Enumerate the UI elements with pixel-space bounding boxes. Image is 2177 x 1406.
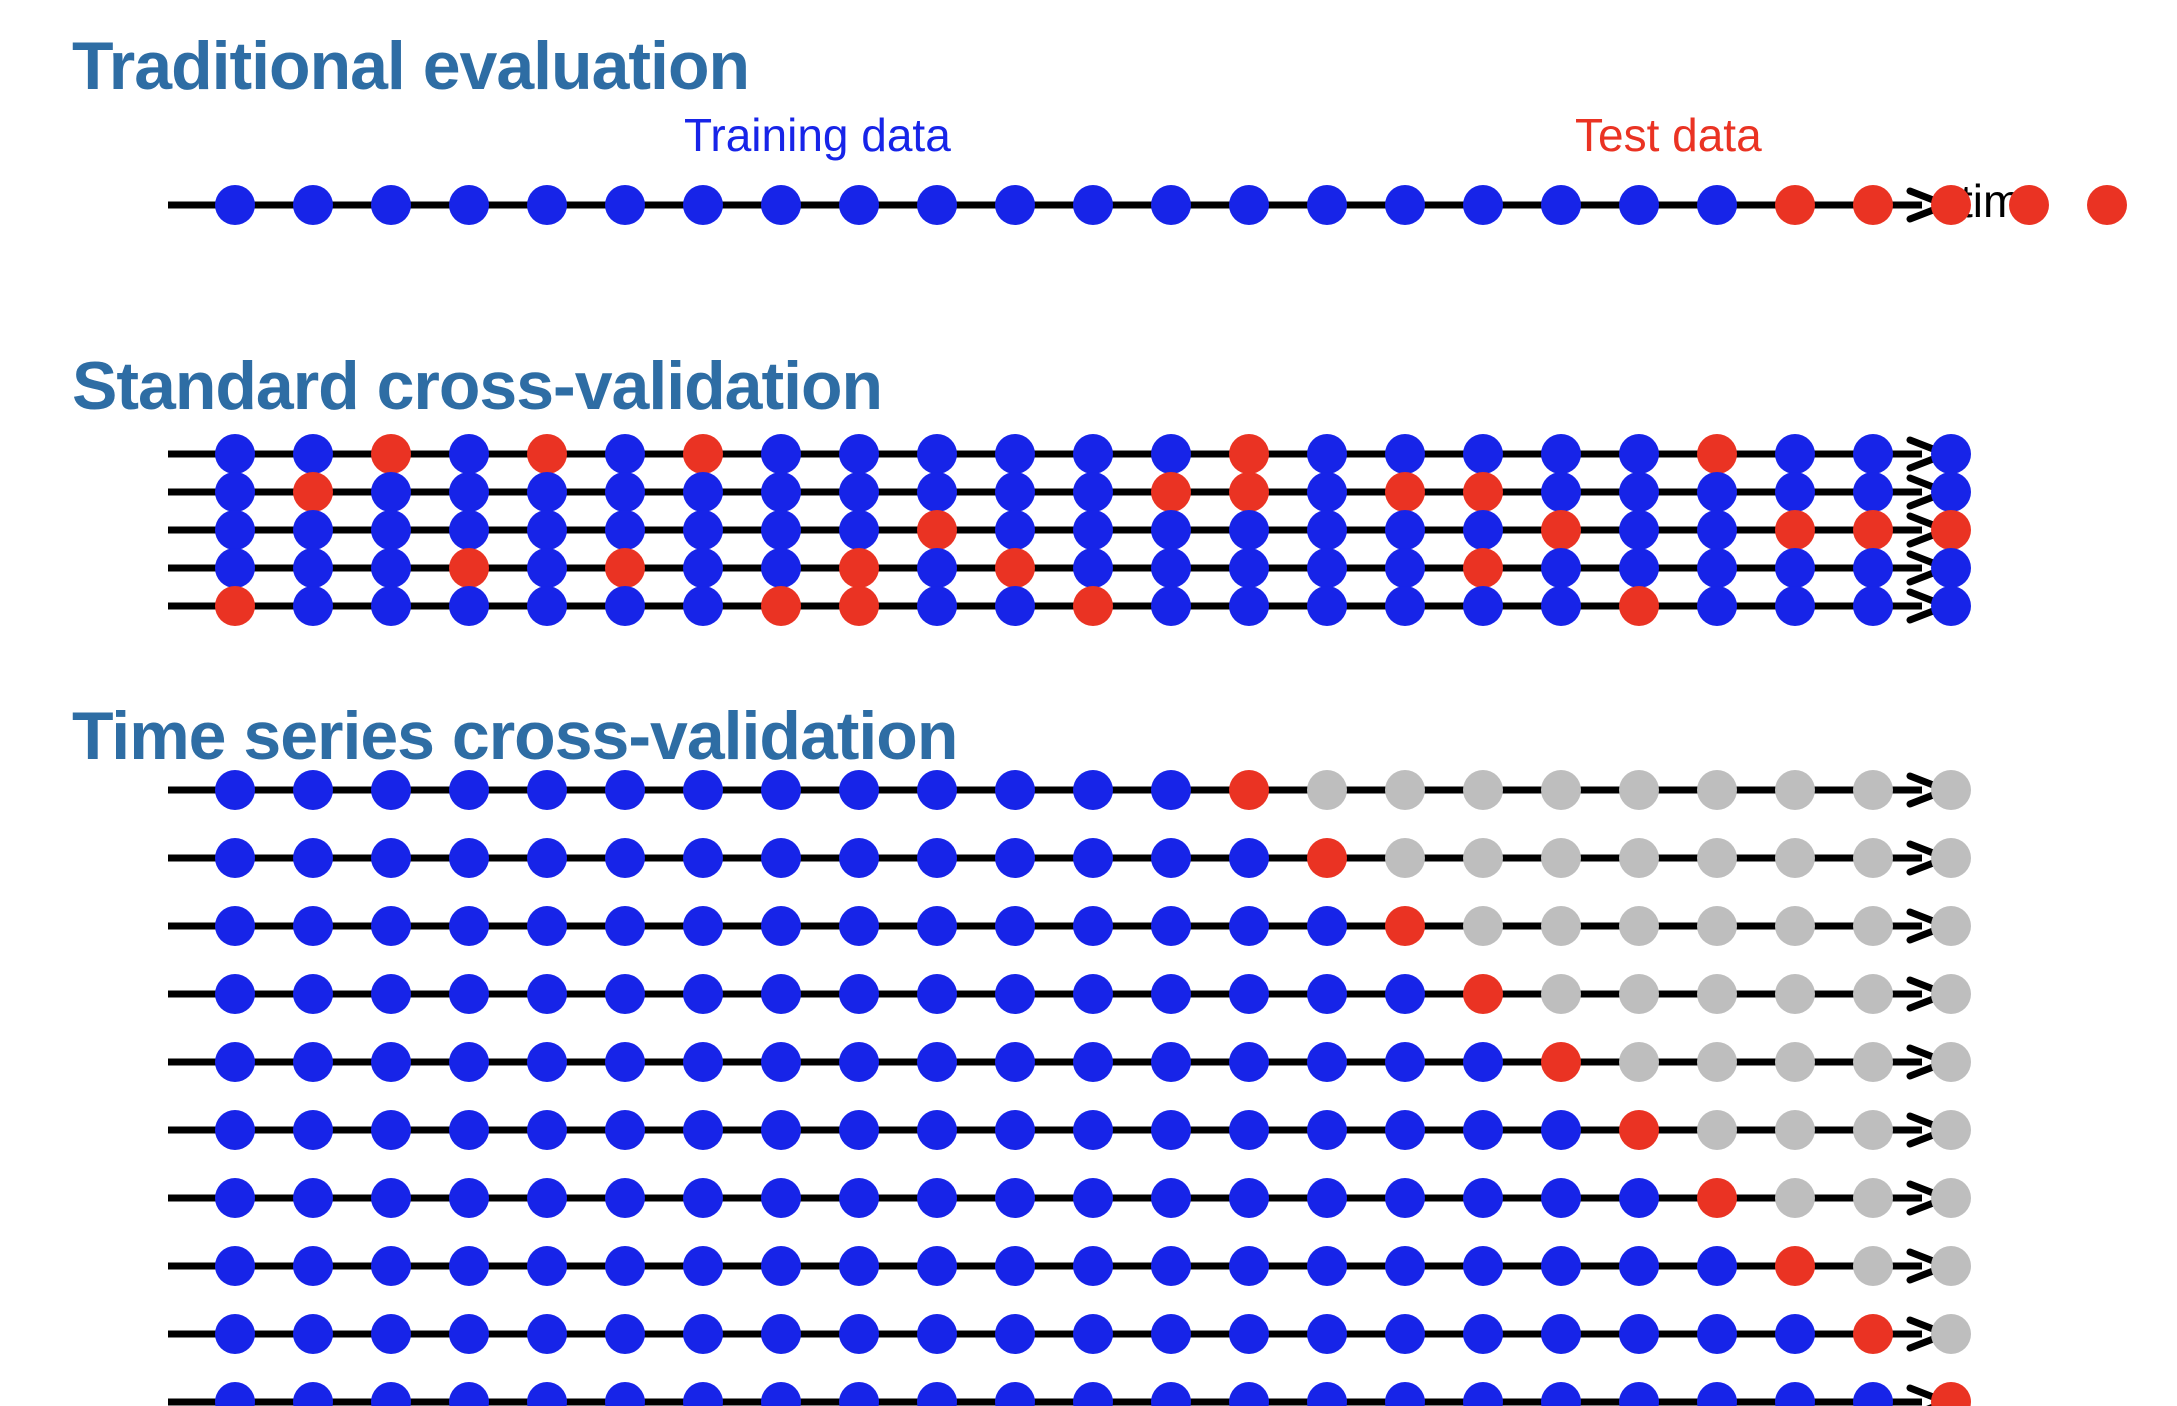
test-point [2087,185,2127,225]
training-point [761,434,801,474]
unused-point [1385,838,1425,878]
timeline-row [168,1176,1958,1220]
training-point [839,1042,879,1082]
training-point [995,1178,1035,1218]
training-point [293,1178,333,1218]
training-point [1775,472,1815,512]
unused-point [1463,838,1503,878]
training-point [1541,1246,1581,1286]
training-point [605,472,645,512]
unused-point [1775,1178,1815,1218]
training-point [917,472,957,512]
training-point [371,1042,411,1082]
training-point [605,1314,645,1354]
training-point [605,1178,645,1218]
training-point [371,1246,411,1286]
unused-point [1931,974,1971,1014]
training-point [293,838,333,878]
training-point [1541,1314,1581,1354]
training-point [1853,472,1893,512]
training-point [1697,185,1737,225]
training-point [527,838,567,878]
training-point [1073,974,1113,1014]
training-point [839,1178,879,1218]
training-point [215,1246,255,1286]
training-point [449,1110,489,1150]
training-point [215,838,255,878]
test-point [995,548,1035,588]
training-point [293,1042,333,1082]
training-point [917,185,957,225]
training-point [605,974,645,1014]
training-point [995,906,1035,946]
training-point [1229,510,1269,550]
training-point [1229,1314,1269,1354]
training-point [683,548,723,588]
training-point [683,906,723,946]
training-point [1619,510,1659,550]
test-point [1619,1110,1659,1150]
training-point [1151,548,1191,588]
test-point [1073,586,1113,626]
training-point [761,1178,801,1218]
training-point [1307,185,1347,225]
training-point [761,1382,801,1406]
training-point [605,1246,645,1286]
training-point [371,1178,411,1218]
training-point [1619,185,1659,225]
training-point [1697,1382,1737,1406]
training-point [449,1382,489,1406]
training-point [1229,1178,1269,1218]
training-point [683,974,723,1014]
training-point [761,510,801,550]
training-point [761,974,801,1014]
training-point [839,185,879,225]
training-point [527,906,567,946]
training-point [1307,1314,1347,1354]
training-point [995,472,1035,512]
training-point [1853,1382,1893,1406]
test-point [1463,472,1503,512]
training-point [371,510,411,550]
training-point [1463,1178,1503,1218]
training-point [1619,434,1659,474]
unused-point [1931,1246,1971,1286]
training-point [1073,1382,1113,1406]
training-point [995,770,1035,810]
training-point [917,1314,957,1354]
unused-point [1697,1042,1737,1082]
training-point [1697,472,1737,512]
training-point [215,1110,255,1150]
training-point [371,1314,411,1354]
training-point [1385,1178,1425,1218]
training-point [1307,434,1347,474]
training-point [293,586,333,626]
training-point [527,1042,567,1082]
unused-point [1853,1178,1893,1218]
training-point [917,770,957,810]
training-point [605,434,645,474]
training-point [293,510,333,550]
training-point [371,770,411,810]
training-point [1385,1042,1425,1082]
training-point [1073,434,1113,474]
training-point [1073,1178,1113,1218]
training-point [1073,1110,1113,1150]
test-point [1853,1314,1893,1354]
training-point [917,548,957,588]
training-point [1385,1110,1425,1150]
training-point [1307,906,1347,946]
test-point [1385,472,1425,512]
training-point [1307,974,1347,1014]
test-point [1229,434,1269,474]
unused-point [1931,1042,1971,1082]
unused-point [1541,770,1581,810]
training-point [527,1178,567,1218]
training-point [449,472,489,512]
unused-point [1541,906,1581,946]
training-point [1697,586,1737,626]
training-point [1697,1314,1737,1354]
training-point [917,1110,957,1150]
training-point [1151,1178,1191,1218]
training-point [683,770,723,810]
test-point [1229,472,1269,512]
training-point [293,974,333,1014]
test-point [605,548,645,588]
heading-standard-cross-validation: Standard cross-validation [72,352,882,420]
training-point [839,1382,879,1406]
test-point [293,472,333,512]
training-point [605,586,645,626]
training-point [1853,586,1893,626]
training-point [995,1110,1035,1150]
unused-point [1619,906,1659,946]
training-point [1229,1382,1269,1406]
training-point [1151,1246,1191,1286]
training-point [1151,1042,1191,1082]
training-point [1307,548,1347,588]
training-point [1385,434,1425,474]
timeline-row [168,972,1958,1016]
training-point [1931,472,1971,512]
training-point [527,1382,567,1406]
training-point [1619,472,1659,512]
training-point [293,906,333,946]
test-point [683,434,723,474]
training-point [527,586,567,626]
training-point [371,548,411,588]
training-point [1073,770,1113,810]
training-point [293,1110,333,1150]
test-point [1307,838,1347,878]
training-point [1619,1314,1659,1354]
test-point [839,548,879,588]
training-point [1151,838,1191,878]
training-point [1385,974,1425,1014]
label-training-data: Training data [684,112,951,158]
training-point [1853,548,1893,588]
training-point [1775,548,1815,588]
training-point [1775,586,1815,626]
training-point [1385,1314,1425,1354]
training-point [215,548,255,588]
training-point [1619,1382,1659,1406]
training-point [1463,1314,1503,1354]
unused-point [1853,1110,1893,1150]
training-point [1229,1246,1269,1286]
test-point [1775,1246,1815,1286]
training-point [1229,586,1269,626]
unused-point [1931,770,1971,810]
training-point [1697,510,1737,550]
training-point [215,1178,255,1218]
training-point [293,434,333,474]
training-point [839,434,879,474]
test-point [1463,548,1503,588]
test-point [527,434,567,474]
training-point [683,472,723,512]
training-point [215,906,255,946]
training-point [371,838,411,878]
timeline-row [168,836,1958,880]
training-point [1463,586,1503,626]
unused-point [1697,770,1737,810]
training-point [917,586,957,626]
training-point [839,1314,879,1354]
training-point [449,185,489,225]
training-point [1151,185,1191,225]
test-point [1697,1178,1737,1218]
training-point [995,1314,1035,1354]
training-point [293,185,333,225]
training-point [1229,838,1269,878]
unused-point [1775,906,1815,946]
training-point [1229,1110,1269,1150]
training-point [1151,434,1191,474]
heading-traditional-evaluation: Traditional evaluation [72,32,749,100]
training-point [839,510,879,550]
training-point [683,586,723,626]
training-point [293,1246,333,1286]
training-point [371,472,411,512]
training-point [1229,548,1269,588]
training-point [1463,510,1503,550]
test-point [1151,472,1191,512]
training-point [683,1382,723,1406]
timeline-row [168,183,1958,227]
test-point [1385,906,1425,946]
training-point [1541,586,1581,626]
unused-point [1541,974,1581,1014]
training-point [1385,548,1425,588]
unused-point [1775,1042,1815,1082]
training-point [1463,1042,1503,1082]
training-point [1307,1382,1347,1406]
unused-point [1697,906,1737,946]
training-point [215,472,255,512]
training-point [215,185,255,225]
training-point [761,770,801,810]
training-point [1541,1382,1581,1406]
training-point [449,1178,489,1218]
training-point [1697,548,1737,588]
training-point [683,185,723,225]
test-point [1229,770,1269,810]
training-point [215,1314,255,1354]
training-point [527,1246,567,1286]
training-point [1307,510,1347,550]
training-point [449,974,489,1014]
training-point [917,1382,957,1406]
training-point [683,1110,723,1150]
training-point [917,906,957,946]
training-point [1463,1382,1503,1406]
training-point [1463,1110,1503,1150]
training-point [995,586,1035,626]
training-point [839,1246,879,1286]
training-point [995,510,1035,550]
unused-point [1697,838,1737,878]
training-point [1619,1246,1659,1286]
training-point [1541,434,1581,474]
training-point [995,1042,1035,1082]
unused-point [1775,770,1815,810]
unused-point [1853,1246,1893,1286]
training-point [449,906,489,946]
unused-point [1385,770,1425,810]
training-point [1151,1110,1191,1150]
training-point [917,974,957,1014]
training-point [449,510,489,550]
training-point [449,1246,489,1286]
training-point [761,1042,801,1082]
training-point [527,548,567,588]
test-point [215,586,255,626]
training-point [293,548,333,588]
test-point [761,586,801,626]
training-point [1619,1178,1659,1218]
training-point [449,434,489,474]
training-point [215,1042,255,1082]
training-point [1775,1382,1815,1406]
training-point [1151,974,1191,1014]
unused-point [1853,838,1893,878]
training-point [1073,472,1113,512]
training-point [917,1246,957,1286]
training-point [1463,1246,1503,1286]
training-point [1073,1246,1113,1286]
training-point [995,1246,1035,1286]
training-point [1385,586,1425,626]
training-point [1151,510,1191,550]
unused-point [1853,1042,1893,1082]
training-point [371,1110,411,1150]
training-point [605,770,645,810]
training-point [839,770,879,810]
test-point [1931,185,1971,225]
training-point [527,185,567,225]
training-point [1385,510,1425,550]
training-point [1151,1382,1191,1406]
timeline-row [168,768,1958,812]
training-point [605,1382,645,1406]
training-point [1229,185,1269,225]
training-point [527,1110,567,1150]
test-point [1619,586,1659,626]
training-point [995,434,1035,474]
training-point [839,906,879,946]
training-point [1463,434,1503,474]
training-point [1463,185,1503,225]
training-point [1073,906,1113,946]
unused-point [1697,974,1737,1014]
training-point [761,185,801,225]
training-point [761,548,801,588]
training-point [683,1042,723,1082]
training-point [371,1382,411,1406]
test-point [1697,434,1737,474]
test-point [1775,185,1815,225]
timeline-row [168,1380,1958,1406]
timeline-row [168,1040,1958,1084]
unused-point [1931,1178,1971,1218]
test-point [1853,510,1893,550]
training-point [1073,1042,1113,1082]
training-point [1073,185,1113,225]
timeline-row [168,904,1958,948]
training-point [1385,1382,1425,1406]
unused-point [1931,838,1971,878]
training-point [449,1314,489,1354]
training-point [605,510,645,550]
training-point [215,434,255,474]
training-point [1541,185,1581,225]
training-point [1931,586,1971,626]
unused-point [1619,770,1659,810]
training-point [1619,548,1659,588]
training-point [1073,548,1113,588]
unused-point [1931,906,1971,946]
training-point [1541,472,1581,512]
training-point [1307,472,1347,512]
unused-point [1853,770,1893,810]
training-point [215,510,255,550]
timeline-row [168,1312,1958,1356]
training-point [605,838,645,878]
training-point [605,1042,645,1082]
training-point [761,1246,801,1286]
training-point [371,185,411,225]
unused-point [1541,838,1581,878]
unused-point [1619,1042,1659,1082]
training-point [1073,838,1113,878]
training-point [215,974,255,1014]
unused-point [1463,770,1503,810]
training-point [293,770,333,810]
training-point [839,838,879,878]
unused-point [1931,1314,1971,1354]
unused-point [1619,838,1659,878]
test-point [839,586,879,626]
training-point [1307,1042,1347,1082]
training-point [1307,586,1347,626]
training-point [215,770,255,810]
timeline-row [168,1108,1958,1152]
